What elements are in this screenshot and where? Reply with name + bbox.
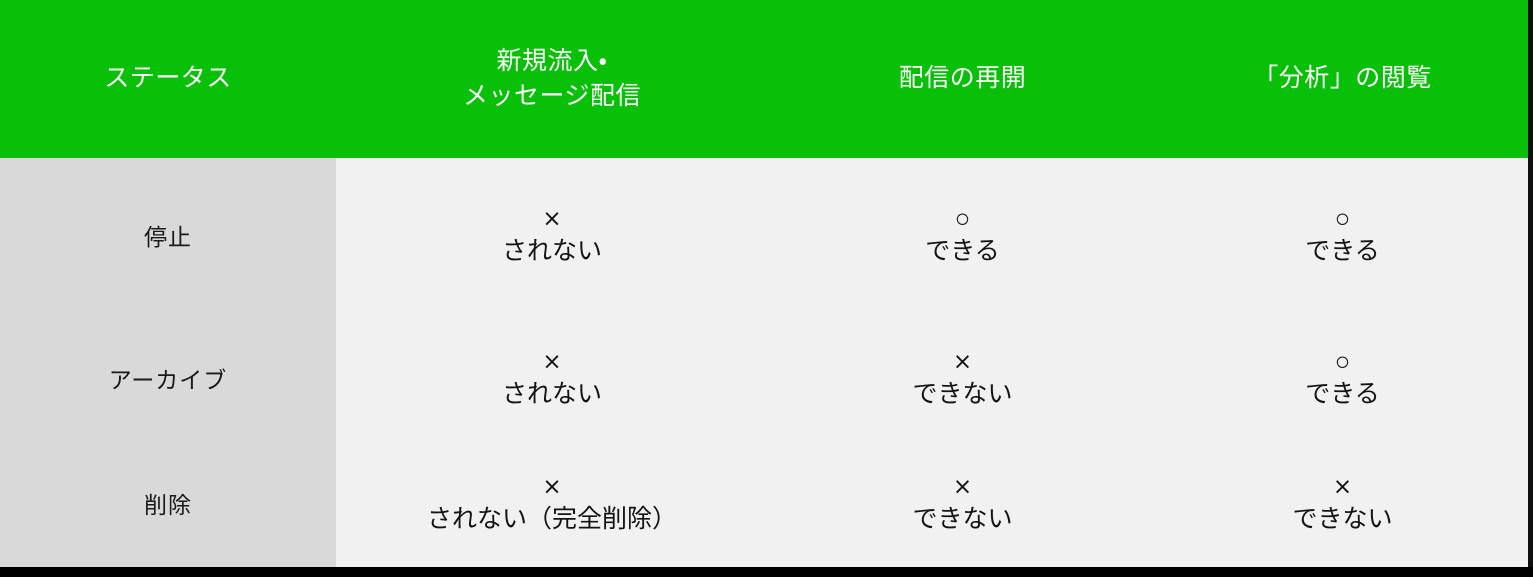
cell-text: されない（完全削除） <box>336 502 768 537</box>
row-status-label-deleted: 削除 <box>0 443 336 567</box>
cell-deleted-view-analytics: × できない <box>1157 443 1528 567</box>
row-status-label-archived: アーカイブ <box>0 317 336 443</box>
cell-archived-view-analytics: ○ できる <box>1157 317 1528 443</box>
screenshot-root: ステータス 新規流入・ メッセージ配信 配信の再開 「分析」の閲覧 停止 <box>0 0 1533 577</box>
cell-text: できない <box>768 377 1157 412</box>
cell-text: されない <box>336 234 768 269</box>
column-header-status: ステータス <box>0 0 336 158</box>
table-row: アーカイブ × されない × できない ○ できる <box>0 317 1528 443</box>
cell-archived-resume-delivery: × できない <box>768 317 1157 443</box>
status-text: アーカイブ <box>109 367 228 393</box>
table-body: 停止 × されない ○ できる ○ できる アーカイブ <box>0 158 1528 567</box>
table-header-row: ステータス 新規流入・ メッセージ配信 配信の再開 「分析」の閲覧 <box>0 0 1528 158</box>
right-edge-strip <box>1528 0 1533 567</box>
cell-text: できる <box>1157 234 1528 269</box>
cross-icon: × <box>336 349 768 375</box>
status-text: 削除 <box>144 492 192 518</box>
cell-text: できない <box>1157 502 1528 537</box>
column-header-status-line-1: ステータス <box>104 64 232 92</box>
cross-icon: × <box>336 206 768 232</box>
cross-icon: × <box>768 349 1157 375</box>
circle-icon: ○ <box>1157 206 1528 232</box>
cell-stopped-resume-delivery: ○ できる <box>768 158 1157 317</box>
cell-text: できない <box>768 502 1157 537</box>
cell-deleted-resume-delivery: × できない <box>768 443 1157 567</box>
circle-icon: ○ <box>1157 349 1528 375</box>
cross-icon: × <box>768 474 1157 500</box>
circle-icon: ○ <box>768 206 1157 232</box>
status-text: 停止 <box>144 224 192 250</box>
cell-archived-new-inflow: × されない <box>336 317 768 443</box>
bottom-black-bar <box>0 567 1533 577</box>
column-header-view-analytics-line-1: 「分析」の閲覧 <box>1253 64 1432 92</box>
cross-icon: × <box>336 474 768 500</box>
status-capability-table: ステータス 新規流入・ メッセージ配信 配信の再開 「分析」の閲覧 停止 <box>0 0 1528 567</box>
cell-text: できる <box>768 234 1157 269</box>
cell-text: されない <box>336 377 768 412</box>
row-status-label-stopped: 停止 <box>0 158 336 317</box>
table-row: 削除 × されない（完全削除） × できない × できない <box>0 443 1528 567</box>
column-header-new-inflow-line-1: 新規流入・ <box>496 47 607 75</box>
table-row: 停止 × されない ○ できる ○ できる <box>0 158 1528 317</box>
column-header-view-analytics: 「分析」の閲覧 <box>1157 0 1528 158</box>
cell-deleted-new-inflow: × されない（完全削除） <box>336 443 768 567</box>
cell-stopped-new-inflow: × されない <box>336 158 768 317</box>
cell-text: できる <box>1157 377 1528 412</box>
column-header-resume-delivery-line-1: 配信の再開 <box>899 64 1027 92</box>
cell-stopped-view-analytics: ○ できる <box>1157 158 1528 317</box>
table-header: ステータス 新規流入・ メッセージ配信 配信の再開 「分析」の閲覧 <box>0 0 1528 158</box>
cross-icon: × <box>1157 474 1528 500</box>
column-header-new-inflow-message-delivery: 新規流入・ メッセージ配信 <box>336 0 768 158</box>
column-header-new-inflow-line-2: メッセージ配信 <box>463 82 641 110</box>
column-header-resume-delivery: 配信の再開 <box>768 0 1157 158</box>
